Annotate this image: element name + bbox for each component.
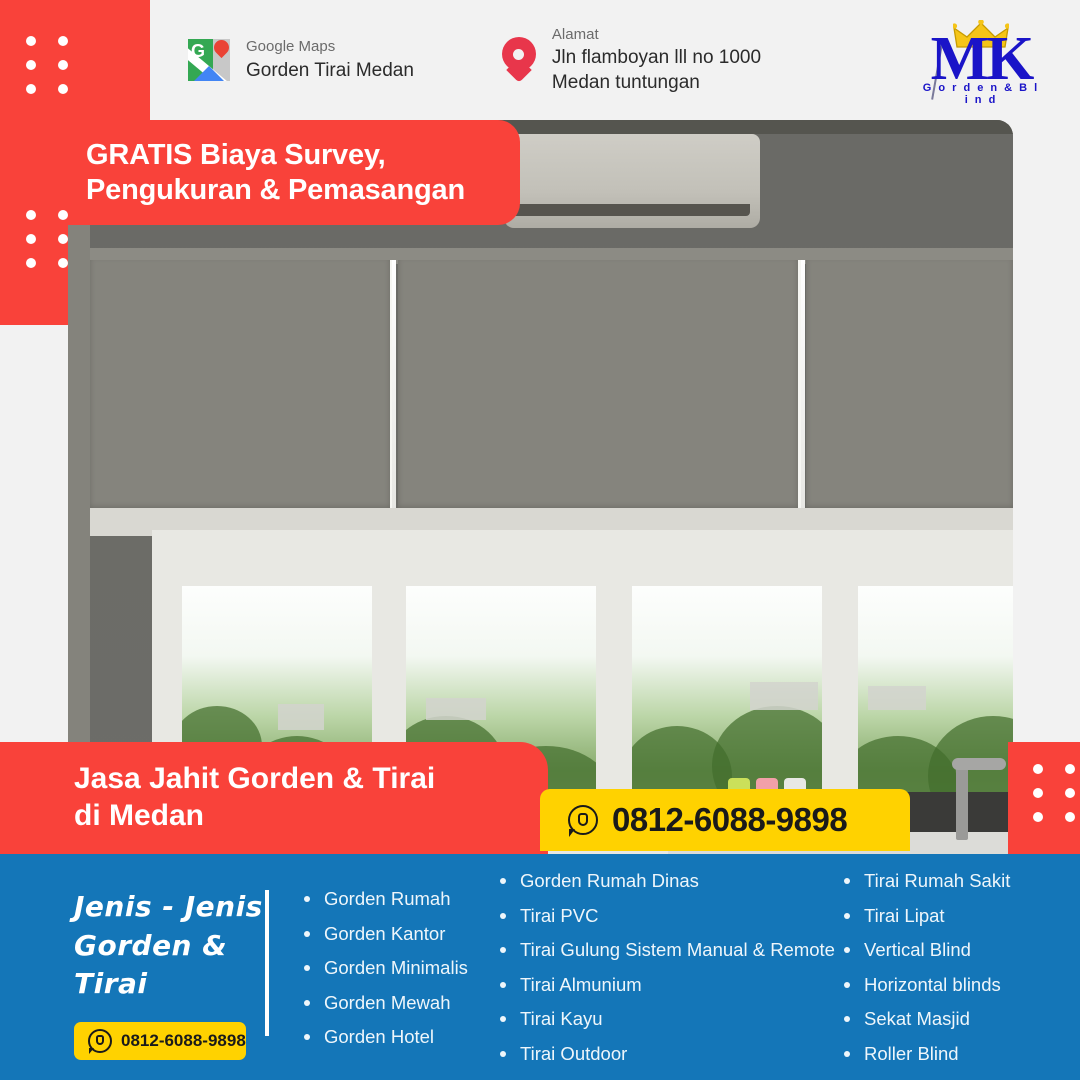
list-item: Tirai Gulung Sistem Manual & Remote xyxy=(496,941,826,960)
roller-blind xyxy=(398,260,798,510)
dot-grid-decoration xyxy=(26,210,68,268)
footer-title: Jenis - Jenis Gorden & Tirai xyxy=(74,888,264,1004)
footer-heading-block: Jenis - Jenis Gorden & Tirai 0812-6088-9… xyxy=(74,888,264,1060)
list-item: Tirai Rumah Sakit xyxy=(840,872,1060,891)
poster-canvas: G Google Maps Gorden Tirai Medan Alamat … xyxy=(0,0,1080,1080)
list-item: Horizontal blinds xyxy=(840,976,1060,995)
whatsapp-phone-button[interactable]: 0812-6088-9898 xyxy=(540,789,910,851)
google-maps-value: Gorden Tirai Medan xyxy=(246,59,414,83)
service-list: Gorden Rumah Gorden Kantor Gorden Minima… xyxy=(300,854,1080,1080)
list-item: Gorden Minimalis xyxy=(300,959,490,978)
address-info[interactable]: Alamat Jln flamboyan lll no 1000 Medan t… xyxy=(502,25,761,95)
footer-whatsapp-button[interactable]: 0812-6088-9898 xyxy=(74,1022,246,1060)
service-column: Gorden Rumah Gorden Kantor Gorden Minima… xyxy=(300,890,490,1063)
list-item: Gorden Rumah xyxy=(300,890,490,909)
roller-blind xyxy=(90,260,390,510)
address-value: Jln flamboyan lll no 1000 Medan tuntunga… xyxy=(552,46,761,95)
footer-phone-number: 0812-6088-9898 xyxy=(121,1031,246,1051)
list-item: Roller Blind xyxy=(840,1045,1060,1064)
roller-blind xyxy=(806,260,1013,510)
service-column: Tirai Rumah Sakit Tirai Lipat Vertical B… xyxy=(840,872,1060,1079)
list-item: Tirai Outdoor xyxy=(496,1045,826,1064)
jasa-banner: Jasa Jahit Gorden & Tirai di Medan xyxy=(0,742,548,854)
brand-logo: MK G o r d e n & B l i n d xyxy=(918,14,1044,110)
google-maps-label: Google Maps xyxy=(246,37,414,57)
address-label: Alamat xyxy=(552,25,761,45)
blind-chain xyxy=(392,260,396,520)
map-pin-icon xyxy=(502,37,536,83)
logo-monogram: MK xyxy=(918,28,1044,90)
jasa-banner-text: Jasa Jahit Gorden & Tirai di Medan xyxy=(74,760,548,834)
list-item: Tirai PVC xyxy=(496,907,826,926)
list-item: Tirai Almunium xyxy=(496,976,826,995)
google-maps-info[interactable]: G Google Maps Gorden Tirai Medan xyxy=(188,37,414,83)
footer: Jenis - Jenis Gorden & Tirai 0812-6088-9… xyxy=(0,854,1080,1080)
list-item: Gorden Hotel xyxy=(300,1028,490,1047)
list-item: Gorden Kantor xyxy=(300,925,490,944)
gratis-banner-text: GRATIS Biaya Survey, Pengukuran & Pemasa… xyxy=(86,138,465,206)
service-column: Gorden Rumah Dinas Tirai PVC Tirai Gulun… xyxy=(496,872,826,1079)
dot-grid-decoration xyxy=(1033,764,1075,822)
whatsapp-icon xyxy=(568,805,598,835)
whatsapp-icon xyxy=(88,1029,112,1053)
air-conditioner-icon xyxy=(504,134,760,228)
list-item: Sekat Masjid xyxy=(840,1010,1060,1029)
blind-chain xyxy=(801,260,805,520)
list-item: Tirai Lipat xyxy=(840,907,1060,926)
dot-grid-decoration xyxy=(26,36,68,94)
faucet-icon xyxy=(956,768,968,840)
gratis-banner: GRATIS Biaya Survey, Pengukuran & Pemasa… xyxy=(0,120,520,225)
logo-tagline: G o r d e n & B l i n d xyxy=(918,82,1044,106)
list-item: Vertical Blind xyxy=(840,941,1060,960)
list-item: Gorden Mewah xyxy=(300,994,490,1013)
list-item: Gorden Rumah Dinas xyxy=(496,872,826,891)
list-item: Tirai Kayu xyxy=(496,1010,826,1029)
footer-divider xyxy=(265,890,269,1036)
phone-number: 0812-6088-9898 xyxy=(612,801,847,839)
google-maps-icon: G xyxy=(188,39,230,81)
